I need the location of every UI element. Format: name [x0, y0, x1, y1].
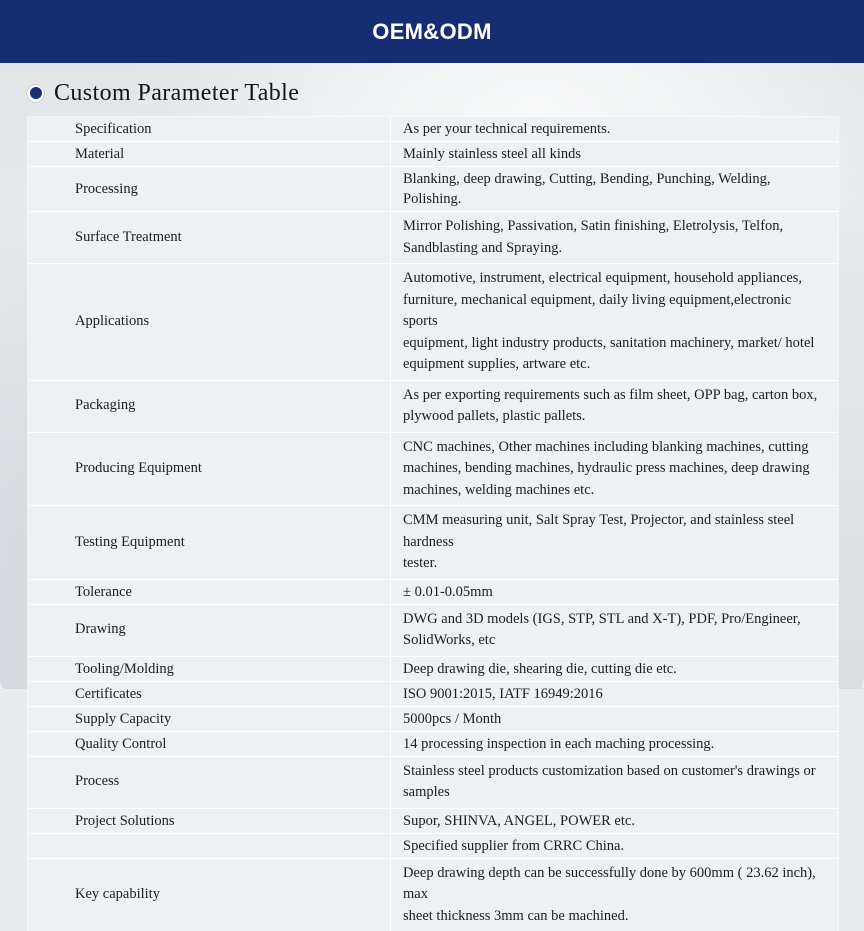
parameter-value-line: Automotive, instrument, electrical equip… [403, 268, 824, 290]
parameter-value-cell: Supor, SHINVA, ANGEL, POWER etc. [391, 808, 839, 833]
table-row: Key capabilityDeep drawing depth can be … [28, 858, 838, 931]
parameter-value-line: samples [403, 782, 824, 804]
parameter-label-cell: Tooling/Molding [28, 656, 391, 681]
parameter-value-cell: CNC machines, Other machines including b… [391, 432, 839, 506]
parameter-label-cell: Drawing [28, 604, 391, 656]
parameter-label-cell: Certificates [28, 681, 391, 706]
parameter-value-line: CNC machines, Other machines including b… [403, 437, 824, 459]
parameter-value-line: As per your technical requirements. [403, 119, 824, 139]
parameter-value-line: CMM measuring unit, Salt Spray Test, Pro… [403, 510, 824, 553]
table-row: Project SolutionsSupor, SHINVA, ANGEL, P… [28, 808, 838, 833]
parameter-value-line: 14 processing inspection in each maching… [403, 734, 824, 754]
parameter-value-cell: Deep drawing depth can be successfully d… [391, 858, 839, 931]
table-row: ApplicationsAutomotive, instrument, elec… [28, 264, 838, 381]
parameter-value-cell: Specified supplier from CRRC China. [391, 833, 839, 858]
table-row: Certificates ISO 9001:2015, IATF 16949:2… [28, 681, 838, 706]
table-row: Tooling/MoldingDeep drawing die, shearin… [28, 656, 838, 681]
table-row: Testing EquipmentCMM measuring unit, Sal… [28, 506, 838, 580]
parameter-label-cell: Processing [28, 167, 391, 212]
parameter-label-cell [28, 833, 391, 858]
parameter-value-line: Blanking, deep drawing, Cutting, Bending… [403, 169, 824, 209]
parameter-label-cell: Tolerance [28, 579, 391, 604]
parameter-value-cell: DWG and 3D models (IGS, STP, STL and X-T… [391, 604, 839, 656]
parameter-value-line: sheet thickness 3mm can be machined. [403, 906, 824, 928]
parameter-value-line: plywood pallets, plastic pallets. [403, 406, 824, 428]
parameter-value-line: furniture, mechanical equipment, daily l… [403, 290, 824, 333]
parameter-value-cell: Mirror Polishing, Passivation, Satin fin… [391, 212, 839, 264]
parameter-label-cell: Applications [28, 264, 391, 381]
parameter-value-line: Deep drawing die, shearing die, cutting … [403, 659, 824, 679]
parameter-value-cell: ± 0.01-0.05mm [391, 579, 839, 604]
parameter-label-cell: Quality Control [28, 731, 391, 756]
parameter-value-line: Stainless steel products customization b… [403, 761, 824, 783]
parameter-label-cell: Material [28, 142, 391, 167]
table-row: DrawingDWG and 3D models (IGS, STP, STL … [28, 604, 838, 656]
parameter-value-cell: 14 processing inspection in each maching… [391, 731, 839, 756]
table-row: Specified supplier from CRRC China. [28, 833, 838, 858]
parameter-label-cell: Project Solutions [28, 808, 391, 833]
parameter-value-line: DWG and 3D models (IGS, STP, STL and X-T… [403, 609, 824, 631]
parameter-value-cell: ISO 9001:2015, IATF 16949:2016 [391, 681, 839, 706]
parameter-label-cell: Testing Equipment [28, 506, 391, 580]
parameter-value-cell: Stainless steel products customization b… [391, 756, 839, 808]
parameter-value-cell: 5000pcs / Month [391, 706, 839, 731]
parameter-value-line: Sandblasting and Spraying. [403, 238, 824, 260]
section-title: Custom Parameter Table [54, 80, 299, 107]
parameter-value-line: Supor, SHINVA, ANGEL, POWER etc. [403, 811, 824, 831]
table-row: ProcessStainless steel products customiz… [28, 756, 838, 808]
radio-filled-icon [26, 84, 45, 103]
parameter-value-line: As per exporting requirements such as fi… [403, 385, 824, 407]
section-header: Custom Parameter Table [26, 74, 299, 112]
parameter-value-line: equipment, light industry products, sani… [403, 333, 824, 355]
parameter-label-cell: Key capability [28, 858, 391, 931]
parameter-value-cell: Deep drawing die, shearing die, cutting … [391, 656, 839, 681]
parameter-value-line: Deep drawing depth can be successfully d… [403, 863, 824, 906]
table-row: Quality Control14 processing inspection … [28, 731, 838, 756]
parameter-label-cell: Packaging [28, 380, 391, 432]
parameter-label-cell: Specification [28, 117, 391, 142]
parameter-value-cell: Mainly stainless steel all kinds [391, 142, 839, 167]
parameter-value-cell: Automotive, instrument, electrical equip… [391, 264, 839, 381]
parameter-value-line: ISO 9001:2015, IATF 16949:2016 [403, 684, 824, 704]
table-row: MaterialMainly stainless steel all kinds [28, 142, 838, 167]
parameter-value-line: machines, bending machines, hydraulic pr… [403, 458, 824, 480]
banner-title: OEM&ODM [372, 19, 491, 45]
table-row: PackagingAs per exporting requirements s… [28, 380, 838, 432]
parameter-value-line: equipment supplies, artware etc. [403, 354, 824, 376]
parameter-value-line: Mainly stainless steel all kinds [403, 144, 824, 164]
parameter-table-body: SpecificationAs per your technical requi… [28, 117, 838, 931]
parameter-label-cell: Surface Treatment [28, 212, 391, 264]
table-row: Tolerance± 0.01-0.05mm [28, 579, 838, 604]
parameter-value-line: SolidWorks, etc [403, 630, 824, 652]
parameter-label-cell: Process [28, 756, 391, 808]
parameter-label-cell: Producing Equipment [28, 432, 391, 506]
parameter-value-cell: As per your technical requirements. [391, 117, 839, 142]
page-banner: OEM&ODM [0, 0, 864, 63]
table-row: Producing EquipmentCNC machines, Other m… [28, 432, 838, 506]
parameter-value-line: Mirror Polishing, Passivation, Satin fin… [403, 216, 824, 238]
parameter-value-cell: As per exporting requirements such as fi… [391, 380, 839, 432]
parameter-value-cell: Blanking, deep drawing, Cutting, Bending… [391, 167, 839, 212]
parameter-value-cell: CMM measuring unit, Salt Spray Test, Pro… [391, 506, 839, 580]
parameter-value-line: 5000pcs / Month [403, 709, 824, 729]
parameter-label-cell: Supply Capacity [28, 706, 391, 731]
parameter-value-line: machines, welding machines etc. [403, 480, 824, 502]
table-row: ProcessingBlanking, deep drawing, Cuttin… [28, 167, 838, 212]
parameter-value-line: Specified supplier from CRRC China. [403, 836, 824, 856]
parameter-value-line: tester. [403, 553, 824, 575]
table-row: SpecificationAs per your technical requi… [28, 117, 838, 142]
custom-parameter-table: SpecificationAs per your technical requi… [28, 117, 838, 931]
parameter-value-line: ± 0.01-0.05mm [403, 582, 824, 602]
table-row: Supply Capacity5000pcs / Month [28, 706, 838, 731]
table-row: Surface TreatmentMirror Polishing, Passi… [28, 212, 838, 264]
